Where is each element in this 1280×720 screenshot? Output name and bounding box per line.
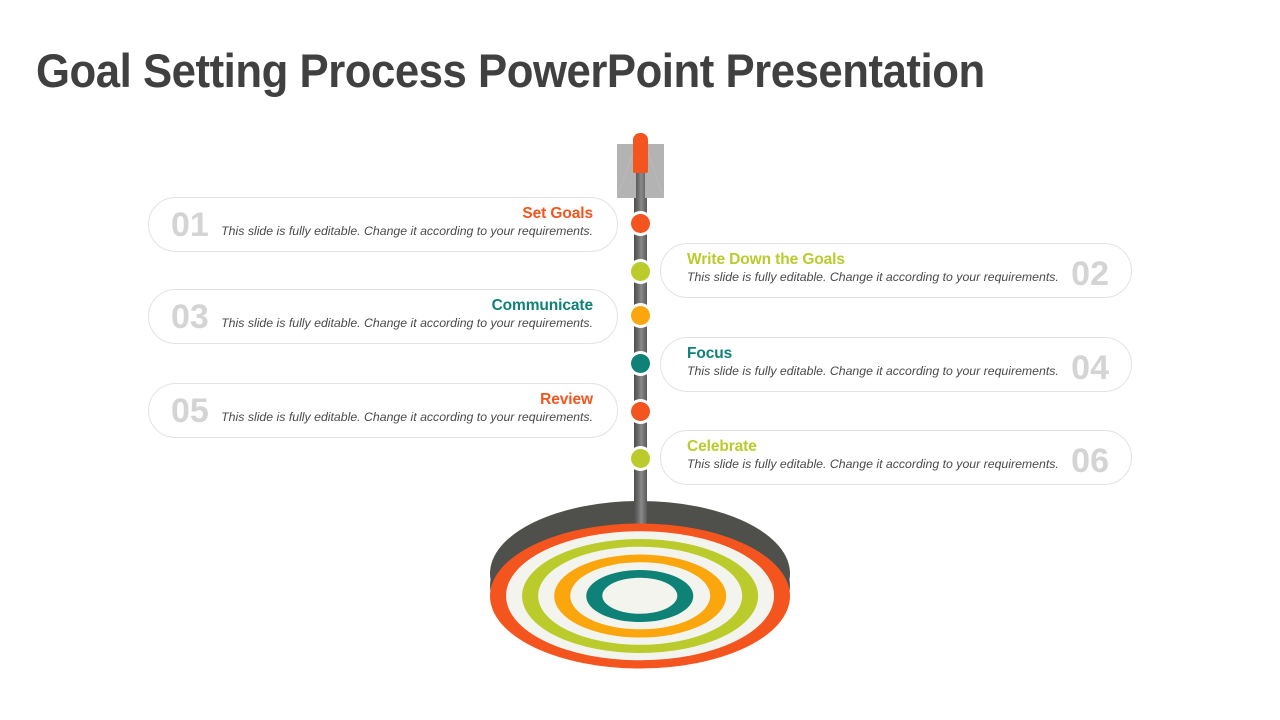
step-body-04: FocusThis slide is fully editable. Chang…: [687, 344, 1059, 380]
step-number-03: 03: [171, 300, 209, 334]
step-description-01: This slide is fully editable. Change it …: [221, 224, 593, 240]
step-description-05: This slide is fully editable. Change it …: [221, 410, 593, 426]
step-description-06: This slide is fully editable. Change it …: [687, 457, 1059, 473]
step-title-03: Communicate: [221, 296, 593, 315]
timeline-dot-01: [631, 214, 650, 233]
target-ring-8: [602, 578, 677, 614]
page-title: Goal Setting Process PowerPoint Presenta…: [36, 46, 1059, 97]
step-body-01: Set GoalsThis slide is fully editable. C…: [221, 204, 593, 240]
arrow-fletching-right-lower-icon: [645, 144, 664, 198]
step-description-04: This slide is fully editable. Change it …: [687, 364, 1059, 380]
step-body-03: CommunicateThis slide is fully editable.…: [221, 296, 593, 332]
step-number-01: 01: [171, 208, 209, 242]
step-title-06: Celebrate: [687, 437, 1059, 456]
step-card-01[interactable]: 01Set GoalsThis slide is fully editable.…: [148, 197, 618, 252]
timeline-dot-03: [631, 306, 650, 325]
arrow-fletching-right-icon: [645, 144, 664, 198]
step-body-06: CelebrateThis slide is fully editable. C…: [687, 437, 1059, 473]
step-card-02[interactable]: 02Write Down the GoalsThis slide is full…: [660, 243, 1132, 298]
target-ring-7: [586, 570, 693, 622]
arrow-fletching-left-lower-icon: [617, 144, 636, 198]
arrow-foot: [622, 560, 658, 577]
timeline-dot-06: [631, 449, 650, 468]
timeline-dot-05: [631, 402, 650, 421]
timeline-dot-04: [631, 354, 650, 373]
target-ring-2: [506, 531, 774, 660]
arrow-foot-stem: [630, 545, 650, 570]
target-ring-1: [490, 524, 790, 669]
step-card-03[interactable]: 03CommunicateThis slide is fully editabl…: [148, 289, 618, 344]
target-ring-6: [570, 562, 710, 629]
step-number-02: 02: [1071, 257, 1109, 291]
presentation-slide: Goal Setting Process PowerPoint Presenta…: [0, 0, 1280, 720]
target-ring-4: [538, 547, 742, 645]
arrow-fletching-left-icon: [617, 144, 636, 198]
step-number-04: 04: [1071, 351, 1109, 385]
step-description-02: This slide is fully editable. Change it …: [687, 270, 1059, 286]
target-board-icon: [490, 487, 790, 677]
target-ring-3: [522, 539, 758, 653]
step-body-02: Write Down the GoalsThis slide is fully …: [687, 250, 1059, 286]
target-base-shadow: [490, 513, 790, 658]
arrow-shaft-icon: [634, 140, 647, 575]
arrow-nock-icon: [633, 133, 648, 173]
step-card-06[interactable]: 06CelebrateThis slide is fully editable.…: [660, 430, 1132, 485]
step-title-02: Write Down the Goals: [687, 250, 1059, 269]
target-base: [490, 501, 790, 646]
step-description-03: This slide is fully editable. Change it …: [221, 316, 593, 332]
target-ring-5: [554, 555, 726, 638]
step-body-05: ReviewThis slide is fully editable. Chan…: [221, 390, 593, 426]
step-title-05: Review: [221, 390, 593, 409]
step-card-04[interactable]: 04FocusThis slide is fully editable. Cha…: [660, 337, 1132, 392]
timeline-dot-02: [631, 262, 650, 281]
step-number-06: 06: [1071, 444, 1109, 478]
step-card-05[interactable]: 05ReviewThis slide is fully editable. Ch…: [148, 383, 618, 438]
step-number-05: 05: [171, 394, 209, 428]
step-title-01: Set Goals: [221, 204, 593, 223]
step-title-04: Focus: [687, 344, 1059, 363]
